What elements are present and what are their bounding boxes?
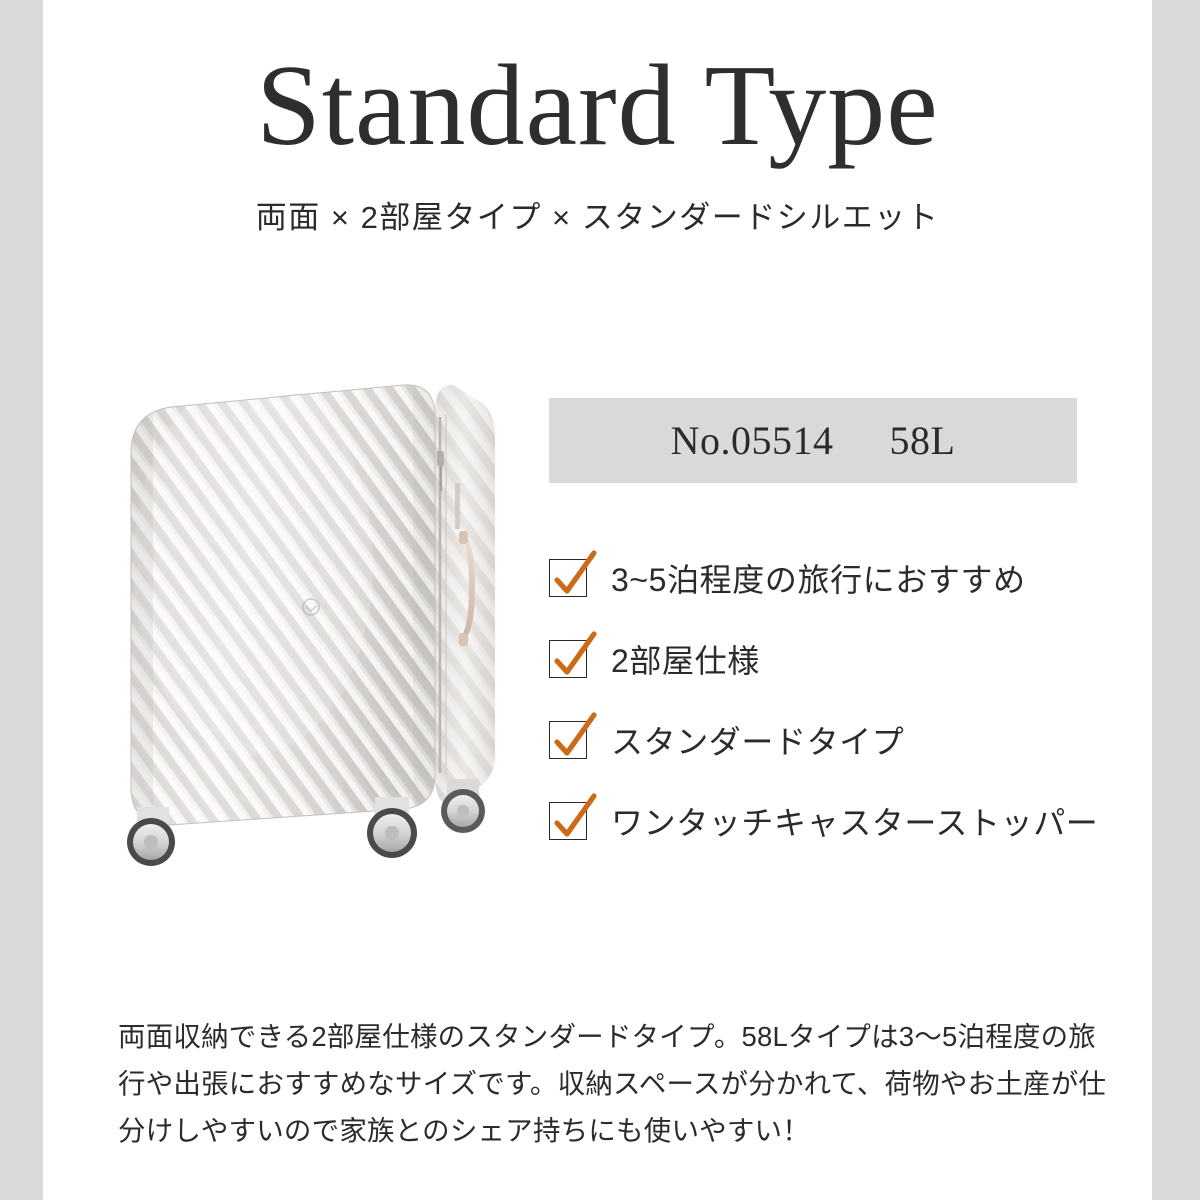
page-subtitle: 両面 × 2部屋タイプ × スタンダードシルエット — [43, 164, 1152, 237]
checkbox-checked-icon — [549, 559, 589, 599]
feature-item: 2部屋仕様 — [549, 631, 1109, 686]
left-gray-band — [0, 0, 43, 1200]
page-title: Standard Type — [43, 0, 1152, 164]
feature-item: 3~5泊程度の旅行におすすめ — [549, 550, 1109, 605]
wheel-left-front — [127, 807, 175, 866]
checkbox-checked-icon — [549, 640, 589, 680]
feature-label: スタンダードタイプ — [611, 717, 904, 763]
checkbox-checked-icon — [549, 802, 589, 842]
feature-list: 3~5泊程度の旅行におすすめ 2部屋仕様 スタンダー — [549, 550, 1109, 848]
feature-label: 3~5泊程度の旅行におすすめ — [611, 555, 1026, 601]
model-badge: No.05514 58L — [549, 398, 1077, 483]
suitcase-side-panel — [433, 375, 497, 815]
product-image — [103, 355, 523, 875]
suitcase-shell — [123, 375, 453, 845]
feature-item: ワンタッチキャスターストッパー — [549, 793, 1109, 848]
wheel-right-rear — [441, 779, 485, 833]
product-info-panel: No.05514 58L 3~5泊程度の旅行におすすめ — [549, 398, 1109, 874]
feature-item: スタンダードタイプ — [549, 712, 1109, 767]
right-gray-band — [1152, 0, 1200, 1200]
model-capacity: 58L — [889, 417, 955, 464]
page-canvas: Standard Type 両面 × 2部屋タイプ × スタンダードシルエット — [43, 0, 1152, 1200]
header: Standard Type 両面 × 2部屋タイプ × スタンダードシルエット — [43, 0, 1152, 237]
product-description: 両面収納できる2部屋仕様のスタンダードタイプ。58Lタイプは3〜5泊程度の旅行や… — [118, 1013, 1108, 1155]
checkbox-checked-icon — [549, 721, 589, 761]
feature-label: ワンタッチキャスターストッパー — [611, 798, 1098, 844]
model-number: No.05514 — [671, 417, 834, 464]
feature-label: 2部屋仕様 — [611, 636, 760, 682]
